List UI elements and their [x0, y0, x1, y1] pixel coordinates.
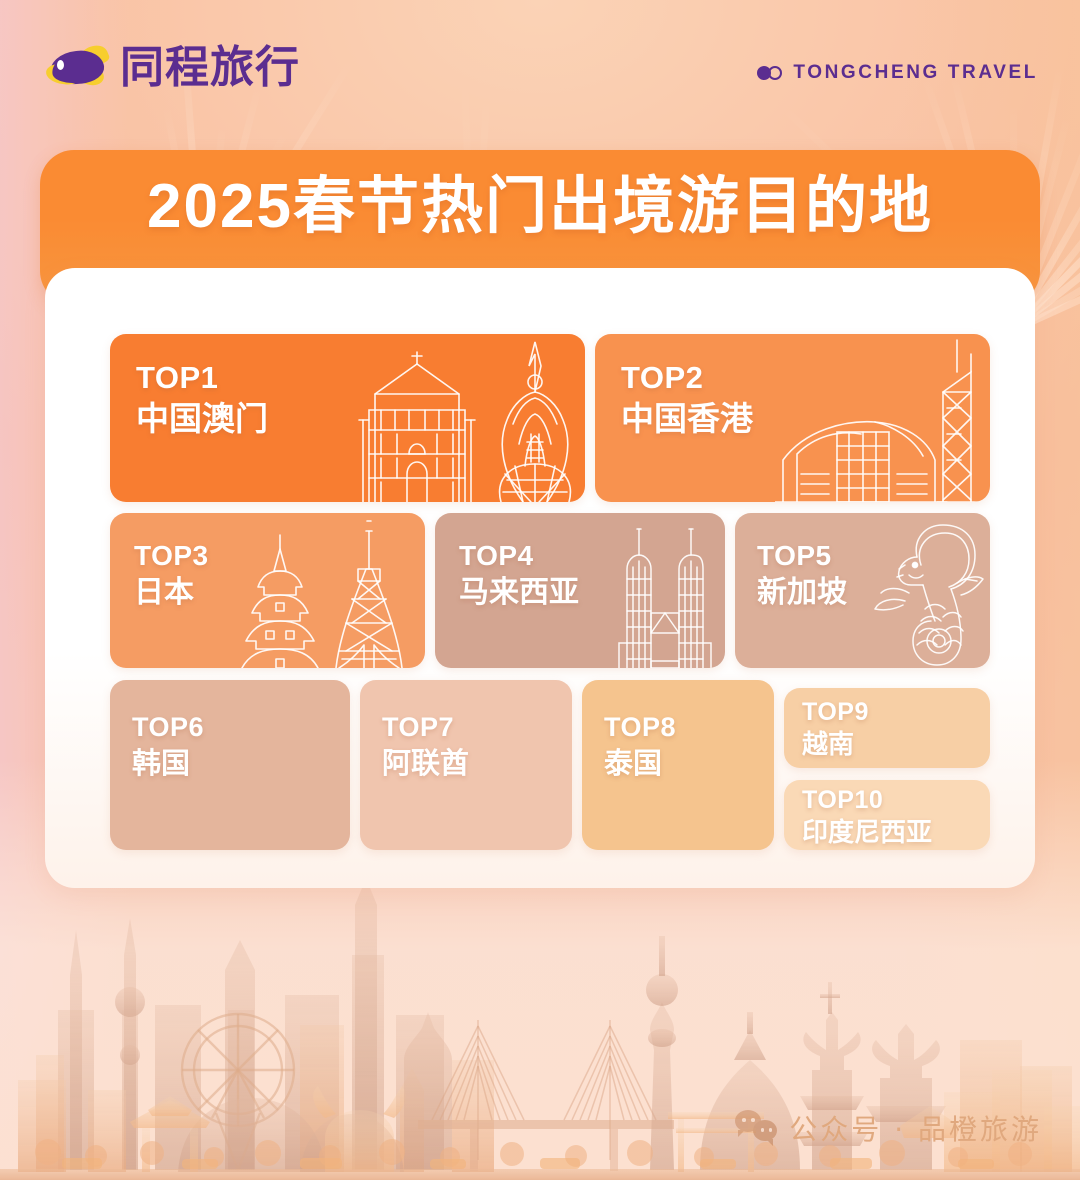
ranking-card-labels: TOP9 越南 [802, 698, 869, 759]
destination-label: 新加坡 [757, 575, 847, 610]
destination-label: 马来西亚 [459, 575, 579, 610]
rank-label: TOP5 [757, 539, 847, 572]
ranking-card-grid: TOP1 中国澳门 [0, 0, 1080, 1180]
watermark: 公众号 · 品橙旅游 [735, 1108, 1042, 1148]
ranking-card-labels: TOP5 新加坡 [757, 539, 847, 610]
bank-of-china-tower-and-convention-centre-icon [775, 334, 990, 502]
rank-label: TOP1 [136, 360, 268, 397]
rank-label: TOP9 [802, 698, 869, 728]
ranking-card-labels: TOP1 中国澳门 [136, 360, 268, 439]
merlion-icon [865, 513, 990, 668]
ranking-card-top3[interactable]: TOP3 日本 [110, 513, 425, 668]
destination-label: 印度尼西亚 [802, 817, 932, 848]
rank-label: TOP10 [802, 786, 932, 816]
ranking-card-top10[interactable]: TOP10 印度尼西亚 [784, 780, 990, 850]
rank-label: TOP6 [132, 712, 204, 744]
ruins-of-st-pauls-and-grand-lisboa-icon [355, 334, 585, 502]
ranking-card-labels: TOP10 印度尼西亚 [802, 786, 932, 847]
destination-label: 越南 [802, 729, 869, 760]
ranking-card-top8[interactable]: TOP8 泰国 [582, 680, 774, 850]
ranking-card-top7[interactable]: TOP7 阿联酋 [360, 680, 572, 850]
ranking-card-top1[interactable]: TOP1 中国澳门 [110, 334, 585, 502]
destination-label: 泰国 [604, 747, 676, 781]
pagoda-and-tokyo-tower-icon [240, 513, 425, 668]
ranking-card-top6[interactable]: TOP6 韩国 [110, 680, 350, 850]
destination-label: 日本 [134, 575, 209, 610]
ranking-card-labels: TOP3 日本 [134, 539, 209, 610]
watermark-text: 公众号 · 品橙旅游 [789, 1108, 1042, 1148]
destination-label: 阿联酋 [382, 747, 469, 781]
rank-label: TOP7 [382, 712, 469, 744]
destination-label: 中国香港 [621, 400, 753, 439]
ranking-card-top2[interactable]: TOP2 中国香港 [595, 334, 990, 502]
ranking-card-top5[interactable]: TOP5 新加坡 [735, 513, 990, 668]
ranking-card-labels: TOP7 阿联酋 [382, 712, 469, 781]
wechat-bubbles-icon [735, 1110, 777, 1146]
rank-label: TOP2 [621, 360, 753, 397]
destination-label: 韩国 [132, 747, 204, 781]
ranking-card-top4[interactable]: TOP4 马来西亚 [435, 513, 725, 668]
ranking-card-labels: TOP6 韩国 [132, 712, 204, 781]
rank-label: TOP4 [459, 539, 579, 572]
rank-label: TOP8 [604, 712, 676, 744]
ranking-card-labels: TOP4 马来西亚 [459, 539, 579, 610]
ranking-card-labels: TOP2 中国香港 [621, 360, 753, 439]
ranking-card-labels: TOP8 泰国 [604, 712, 676, 781]
rank-label: TOP3 [134, 539, 209, 572]
destination-label: 中国澳门 [136, 400, 268, 439]
petronas-twin-towers-icon [605, 513, 725, 668]
ranking-card-top9[interactable]: TOP9 越南 [784, 688, 990, 768]
